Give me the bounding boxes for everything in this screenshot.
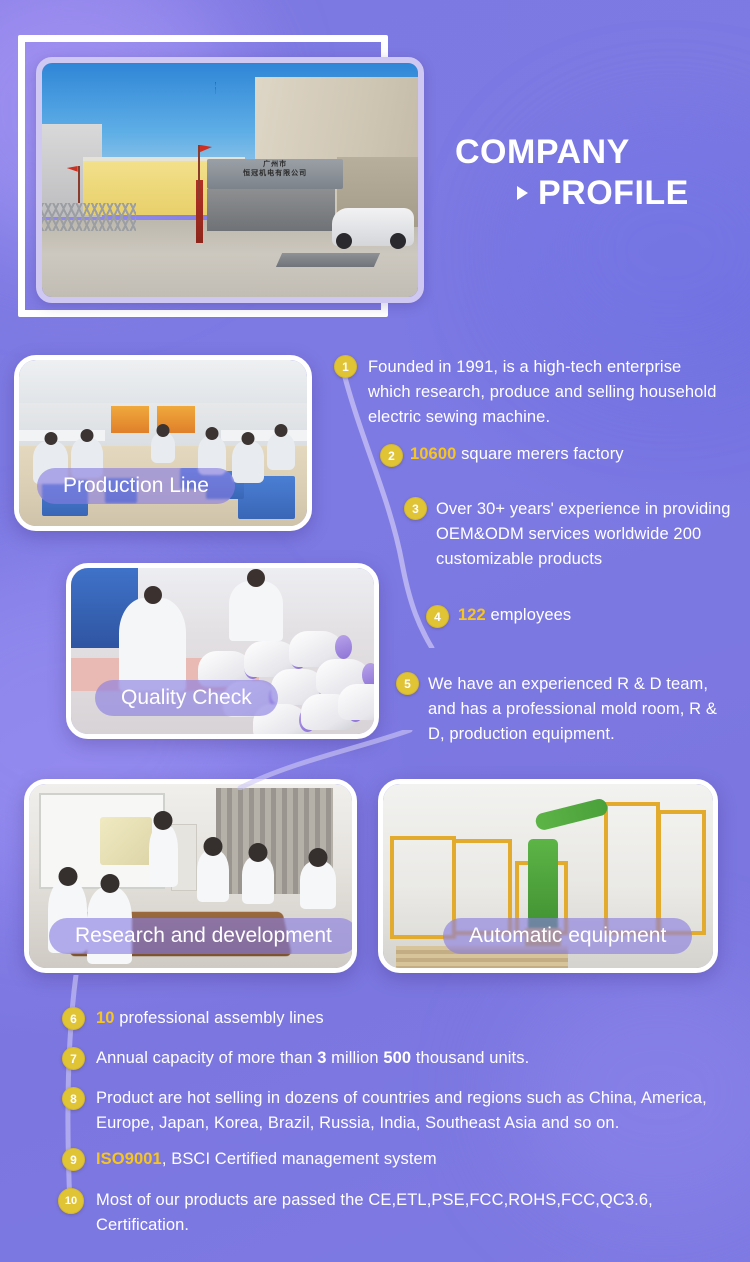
fact-badge-2: 2 (380, 444, 403, 467)
fact-text-4: 122 employees (458, 603, 738, 628)
photo-card-research-development: Research and development (24, 779, 357, 973)
fact-highlight: 10 (96, 1009, 115, 1027)
caption-quality-check: Quality Check (95, 680, 278, 716)
caption-research-development: Research and development (49, 918, 357, 954)
fact-badge-5: 5 (396, 672, 419, 695)
fact-highlight: 3 (317, 1049, 326, 1067)
fact-badge-6: 6 (62, 1007, 85, 1030)
triangle-marker-icon (517, 186, 528, 200)
fact-badge-10: 10 (58, 1188, 84, 1214)
factory-entrance-photo: 广州市恒冠机电有限公司 (36, 57, 424, 303)
photo-card-quality-check: Quality Check (66, 563, 379, 739)
fact-highlight: 122 (458, 606, 486, 624)
fact-badge-8: 8 (62, 1087, 85, 1110)
fact-text-5: We have an experienced R & D team, and h… (428, 672, 728, 747)
title-line-profile: PROFILE (517, 172, 735, 214)
fact-text-2: 10600 square merers factory (410, 442, 740, 467)
fact-text-8: Product are hot selling in dozens of cou… (96, 1086, 730, 1136)
fact-text-7: Annual capacity of more than 3 million 5… (96, 1046, 726, 1071)
fact-highlight: 10600 (410, 445, 456, 463)
title-profile-text: PROFILE (538, 172, 689, 214)
caption-production-line: Production Line (37, 468, 235, 504)
factory-signboard: 广州市恒冠机电有限公司 (207, 159, 342, 189)
caption-automatic-equipment: Automatic equipment (443, 918, 692, 954)
fact-badge-1: 1 (334, 355, 357, 378)
fact-highlight: 500 (383, 1049, 411, 1067)
fact-text-6: 10 professional assembly lines (96, 1006, 716, 1031)
fact-badge-4: 4 (426, 605, 449, 628)
fact-badge-9: 9 (62, 1148, 85, 1171)
fact-text-9: ISO9001, BSCI Certified management syste… (96, 1147, 716, 1172)
fact-badge-7: 7 (62, 1047, 85, 1070)
photo-card-production-line: Production Line (14, 355, 312, 531)
signboard-chinese-text: 广州市恒冠机电有限公司 (207, 159, 342, 189)
title-line-company: COMPANY (455, 132, 735, 172)
fact-badge-3: 3 (404, 497, 427, 520)
company-profile-page: 广州市恒冠机电有限公司 COMPANY PROFILE (0, 0, 750, 1262)
fact-highlight: ISO9001 (96, 1150, 162, 1168)
fact-text-10: Most of our products are passed the CE,E… (96, 1188, 726, 1238)
hero-section: 广州市恒冠机电有限公司 COMPANY PROFILE (0, 0, 750, 340)
photo-card-automatic-equipment: Automatic equipment (378, 779, 718, 973)
page-title: COMPANY PROFILE (455, 132, 735, 214)
fact-text-1: Founded in 1991, is a high-tech enterpri… (368, 355, 720, 430)
fact-text-3: Over 30+ years' experience in providing … (436, 497, 732, 572)
